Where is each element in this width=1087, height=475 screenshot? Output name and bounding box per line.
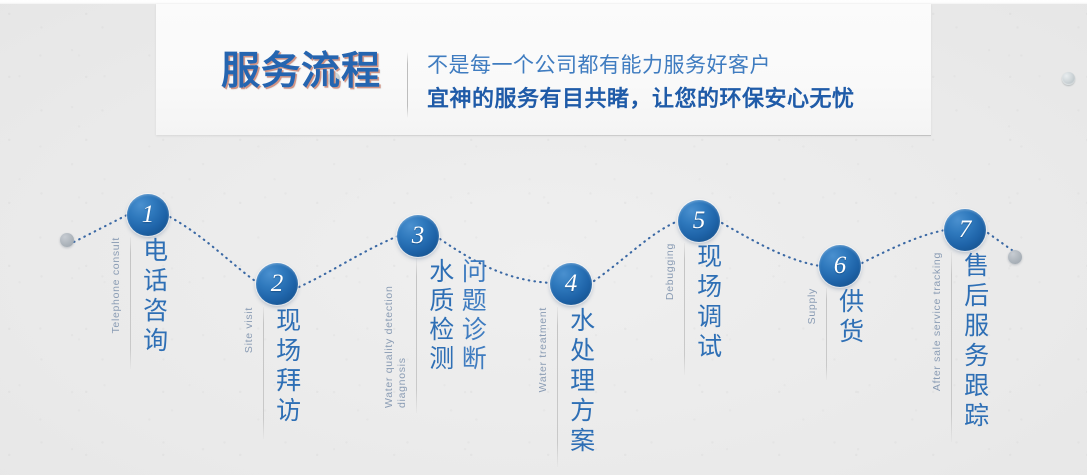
step-node-7[interactable]: 7 — [944, 209, 986, 251]
step-node-4[interactable]: 4 — [550, 263, 592, 305]
step-label-2: Site visit 现场拜访 — [243, 307, 301, 439]
header-subtitle: 不是每一个公司都有能力服务好客户 宜神的服务有目共睹，让您的环保安心无忧 — [427, 52, 855, 113]
screw-dot-right-icon — [1062, 72, 1075, 85]
label-rule-1 — [130, 237, 131, 369]
step-number-7: 7 — [959, 217, 972, 244]
step-label-3: Water quality detection diagnosis 问题诊断 水… — [383, 258, 486, 413]
step-label-7: After sale service tracking 售后服务跟踪 — [931, 252, 989, 442]
step-label-cn-6: 供货 — [834, 288, 864, 348]
step-number-3: 3 — [412, 223, 425, 250]
step-label-cn-group-5: 现场调试 — [692, 243, 722, 363]
label-rule-7 — [951, 252, 952, 442]
label-rule-4 — [557, 307, 558, 467]
step-number-5: 5 — [693, 208, 706, 235]
step-label-cn-group-3: 问题诊断 水质检测 — [424, 258, 486, 374]
step-number-2: 2 — [271, 271, 284, 298]
step-label-cn-group-7: 售后服务跟踪 — [959, 252, 989, 432]
step-node-3[interactable]: 3 — [397, 215, 439, 257]
step-label-4: Water treatment 水处理方案 — [537, 307, 595, 467]
label-rule-2 — [263, 307, 264, 439]
subtitle-line-1: 不是每一个公司都有能力服务好客户 — [427, 52, 855, 80]
process-flow: 1 Telephone consult 电话咨询 2 Site visit 现场… — [0, 135, 1087, 475]
step-label-6: Supply 供货 — [806, 288, 864, 380]
step-label-en-1: Telephone consult — [110, 237, 123, 336]
subtitle-line-2: 宜神的服务有目共睹，让您的环保安心无忧 — [427, 84, 855, 113]
step-label-cn-3: 水质检测 — [424, 258, 454, 374]
step-node-5[interactable]: 5 — [678, 200, 720, 242]
step-label-en-5: Debugging — [664, 243, 677, 302]
step-number-6: 6 — [834, 253, 847, 280]
page-title: 服务流程 — [221, 52, 381, 91]
step-label-en-6: Supply — [806, 288, 819, 326]
step-node-6[interactable]: 6 — [819, 245, 861, 287]
step-label-cn-1: 电话咨询 — [138, 237, 168, 357]
step-label-cn-2: 现场拜访 — [271, 307, 301, 427]
step-label-en-2: Site visit — [243, 307, 256, 355]
step-label-cn-group-6: 供货 — [834, 288, 864, 348]
flow-endcap-end-icon — [1008, 250, 1022, 264]
step-label-cn-group-2: 现场拜访 — [271, 307, 301, 427]
step-label-cn-5: 现场调试 — [692, 243, 722, 363]
step-node-1[interactable]: 1 — [127, 194, 169, 236]
step-label-cn-7: 售后服务跟踪 — [959, 252, 989, 432]
step-number-4: 4 — [565, 271, 578, 298]
step-label-cn-3-secondary: 问题诊断 — [457, 258, 487, 374]
step-node-2[interactable]: 2 — [256, 263, 298, 305]
step-label-cn-4: 水处理方案 — [565, 307, 595, 457]
step-label-cn-group-4: 水处理方案 — [565, 307, 595, 457]
step-number-1: 1 — [142, 202, 155, 229]
step-label-en-7: After sale service tracking — [931, 252, 944, 393]
step-label-1: Telephone consult 电话咨询 — [110, 237, 168, 369]
label-rule-6 — [826, 288, 827, 380]
title-divider — [407, 52, 408, 118]
label-rule-3 — [416, 258, 417, 413]
service-process-infographic: 服务流程 不是每一个公司都有能力服务好客户 宜神的服务有目共睹，让您的环保安心无… — [0, 0, 1087, 475]
step-label-cn-group-1: 电话咨询 — [138, 237, 168, 357]
label-rule-5 — [684, 243, 685, 375]
flow-endcap-start-icon — [60, 233, 74, 247]
step-label-en-3: Water quality detection diagnosis — [383, 258, 409, 410]
step-label-5: Debugging 现场调试 — [664, 243, 722, 375]
step-label-en-4: Water treatment — [537, 307, 550, 394]
